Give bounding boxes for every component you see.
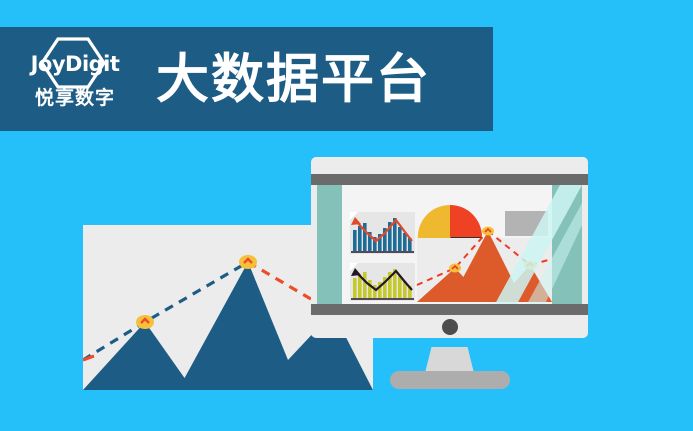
mini-bar-chart-yellow <box>350 263 415 301</box>
data-point-marker <box>482 227 494 236</box>
screen-content-svg <box>317 185 582 304</box>
trend-line-red-stub <box>83 356 94 360</box>
page-title: 大数据平台 <box>156 53 431 106</box>
monitor-power-button[interactable] <box>442 319 458 335</box>
monitor-screen <box>317 185 582 304</box>
poster-canvas: JoyDigit 悦享数字 大数据平台 <box>0 0 693 431</box>
mini-bar-chart-blue <box>350 212 415 254</box>
monitor-illustration <box>311 157 588 389</box>
mountain-shape-left <box>83 322 193 390</box>
header-banner: JoyDigit 悦享数字 大数据平台 <box>0 27 493 131</box>
data-point-marker <box>136 315 154 329</box>
monitor-bottom-bezel <box>311 304 588 315</box>
brand-logo: JoyDigit 悦享数字 <box>14 33 136 125</box>
data-point-marker <box>239 255 257 269</box>
logo-wordmark: JoyDigit <box>31 54 120 75</box>
data-point-marker <box>449 264 461 273</box>
monitor-top-bezel <box>311 174 588 185</box>
logo-subtitle: 悦享数字 <box>35 89 115 108</box>
monitor-stand-base <box>390 371 510 389</box>
